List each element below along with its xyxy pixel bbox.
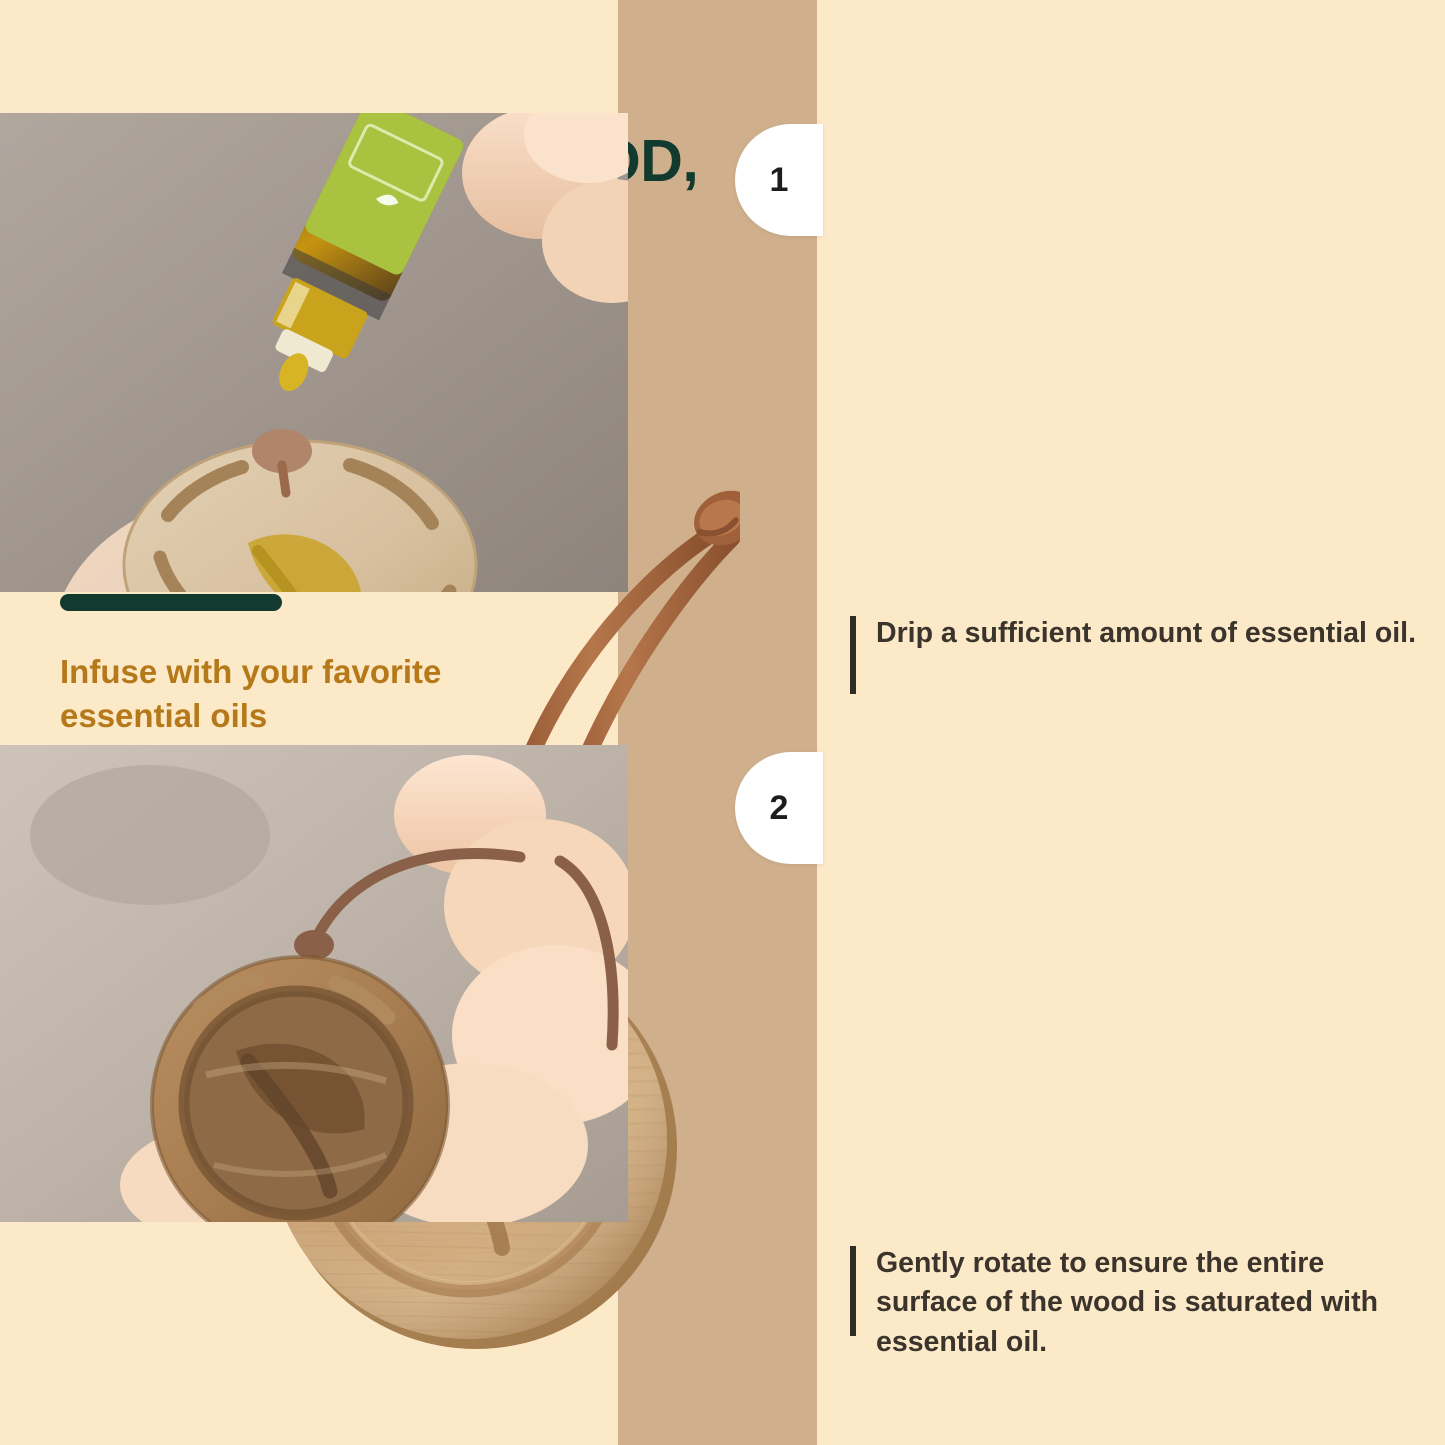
caption-accent-bar [850, 1246, 856, 1336]
step-1-number: 1 [770, 161, 789, 200]
step-1-photo [0, 113, 628, 592]
product-infographic: ONE NATURAL WOOD, ENDLESS SCENTS Uplifti… [0, 0, 1445, 1445]
step-2-caption: Gently rotate to ensure the entire surfa… [817, 1222, 1445, 1445]
step-2-caption-text: Gently rotate to ensure the entire surfa… [876, 1244, 1423, 1362]
step-2-photo [0, 745, 628, 1222]
step-1-caption: Drip a sufficient amount of essential oi… [817, 592, 1445, 745]
step-1-caption-text: Drip a sufficient amount of essential oi… [876, 614, 1416, 653]
saturated-wood-pendant [152, 957, 448, 1222]
step-2-number: 2 [770, 789, 789, 828]
caption-accent-bar [850, 616, 856, 694]
